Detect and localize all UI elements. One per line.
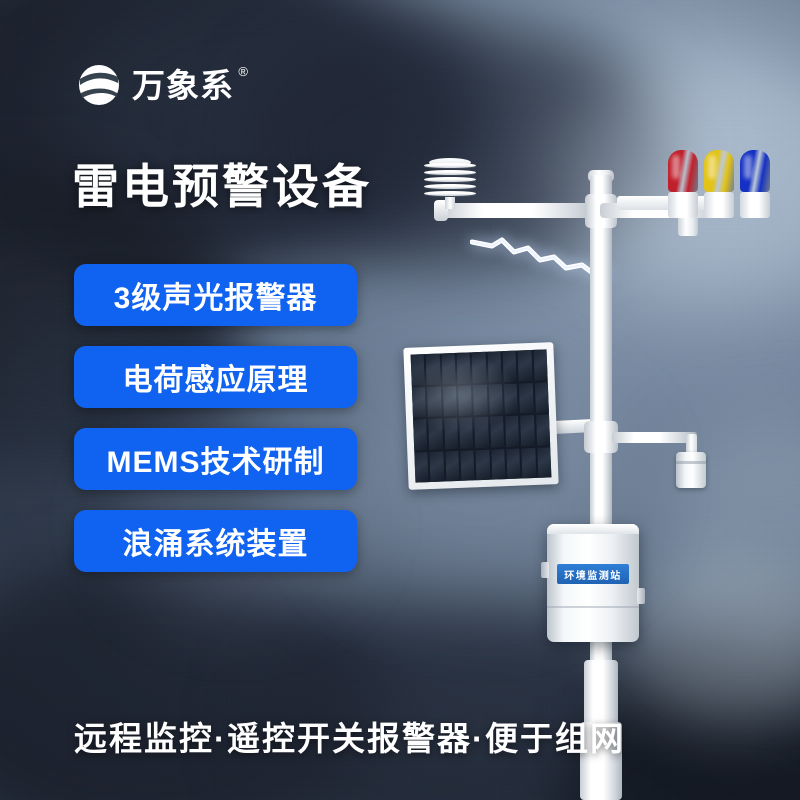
solar-cell — [459, 417, 474, 448]
enclosure-mount-lug — [637, 588, 645, 604]
solar-cell — [442, 385, 456, 416]
solar-cell — [490, 416, 504, 447]
solar-cell — [430, 451, 444, 482]
enclosure-mount-lug — [541, 562, 549, 578]
solar-cell — [411, 354, 425, 385]
solar-cell — [428, 419, 442, 450]
feature-badge-list: 3级声光报警器 电荷感应原理 MEMS技术研制 浪涌系统装置 — [74, 264, 357, 572]
solar-cell — [518, 350, 532, 381]
page-title: 雷电预警设备 — [72, 163, 372, 210]
shield-stem — [445, 197, 455, 209]
cylindrical-sensor — [676, 452, 706, 488]
red-alarm-beacon — [668, 150, 698, 218]
beacon-dome — [740, 150, 770, 192]
solar-cell — [505, 416, 520, 447]
solar-panel — [403, 342, 558, 490]
feature-badge-principle: 电荷感应原理 — [74, 346, 357, 408]
solar-cell — [426, 354, 440, 385]
solar-cell — [441, 353, 455, 384]
enclosure-seam — [547, 606, 639, 608]
yellow-alarm-beacon — [704, 150, 734, 218]
solar-cell — [473, 384, 487, 415]
globe-swoosh-logo-icon — [76, 62, 122, 108]
solar-cell — [519, 383, 533, 414]
solar-cell — [458, 385, 473, 416]
solar-cell — [474, 417, 488, 448]
beacon-dome — [704, 150, 734, 192]
solar-cell — [427, 386, 441, 417]
solar-cell — [488, 384, 502, 415]
feature-badge-technology: MEMS技术研制 — [74, 428, 357, 490]
shield-louver — [424, 184, 476, 189]
solar-cell — [445, 450, 459, 481]
solar-cell — [412, 387, 426, 418]
beacon-foot — [668, 192, 698, 218]
control-enclosure-box: 环境监测站 — [547, 524, 639, 642]
solar-cell — [522, 447, 536, 478]
solar-cell — [520, 415, 534, 446]
shield-louver — [424, 163, 476, 168]
footer-tagline: 远程监控·遥控开关报警器·便于组网 — [74, 712, 625, 760]
enclosure-lid — [547, 524, 639, 534]
brand-name-text: 万象系 — [132, 67, 234, 104]
solar-cell — [476, 449, 490, 480]
solar-cell — [487, 351, 501, 382]
product-banner: 环境监测站 万象系® 雷电预警设备 3级声光报警器 电荷感应原理 MEMS技术研… — [0, 0, 800, 800]
solar-cell — [503, 351, 518, 382]
beacon-foot — [740, 192, 770, 218]
brand-name: 万象系® — [132, 69, 234, 102]
solar-cell — [444, 418, 458, 449]
shield-louver — [424, 177, 476, 182]
control-box-label: 环境监测站 — [557, 564, 629, 584]
solar-cell — [491, 449, 505, 480]
solar-cell — [506, 448, 521, 479]
blue-alarm-beacon — [740, 150, 770, 218]
lightning-bolt-icon — [470, 232, 610, 288]
registered-trademark-mark: ® — [238, 65, 249, 78]
solar-cell — [536, 414, 550, 445]
brand-logo: 万象系® — [76, 62, 234, 108]
solar-cell — [472, 352, 486, 383]
shield-louver — [424, 191, 476, 196]
solar-cell — [534, 382, 548, 413]
feature-badge-alarm: 3级声光报警器 — [74, 264, 357, 326]
radiation-shield-sensor — [424, 161, 476, 205]
solar-cell — [460, 450, 475, 481]
solar-cell — [414, 452, 428, 483]
solar-panel-cell-grid — [411, 349, 552, 482]
solar-cell — [413, 419, 427, 450]
upper-cross-arm — [440, 203, 605, 218]
feature-badge-surge: 浪涌系统装置 — [74, 510, 357, 572]
shield-louver — [424, 170, 476, 175]
solar-cell — [504, 383, 519, 414]
solar-cell — [533, 349, 547, 380]
beacon-foot — [704, 192, 734, 218]
lower-cross-arm — [612, 432, 697, 443]
solar-cell — [457, 352, 472, 383]
solar-cell — [537, 447, 551, 478]
beacon-dome — [668, 150, 698, 192]
